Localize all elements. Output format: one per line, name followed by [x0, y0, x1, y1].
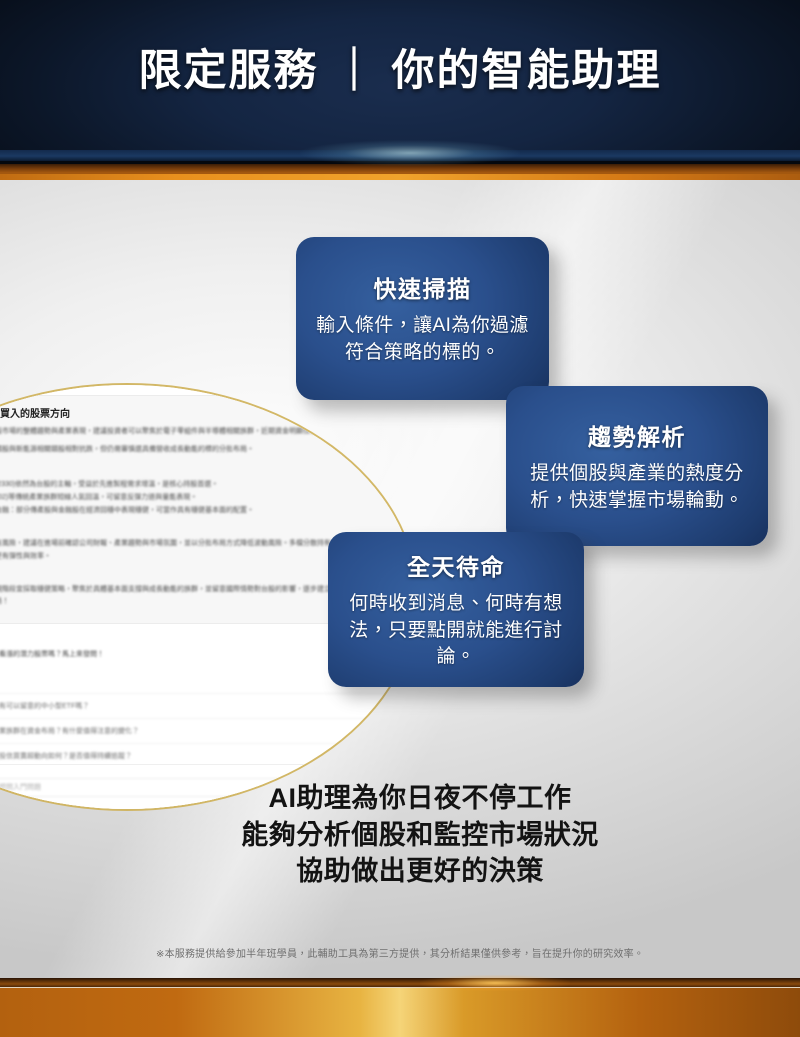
list-item: 傳產與金融：部分傳產股與金融股在經濟回穩中表現穩健，可當作具有穩健基本面的配置。	[0, 504, 390, 517]
disclaimer-text: ※本服務提供給參加半年班學員，此輔助工具為第三方提供，其分析結果僅供參考，旨在提…	[0, 945, 800, 960]
header-banner: 限定服務 ｜ 你的智能助理	[0, 0, 800, 150]
list-item: 中鋼(2002)等傳統產業族群短線人氣回溫，可留意反彈力道與量能表現。	[0, 491, 390, 504]
feature-card-title: 全天待命	[407, 548, 505, 582]
feature-card-body: 何時收到消息、何時有想法，只要點開就能進行討論。	[344, 591, 568, 672]
feature-card-body: 輸入條件，讓AI為你過濾符合策略的標的。	[314, 313, 531, 367]
followup-question[interactable]: 除了權值股之外有可以留意的中小型ETF嗎？	[0, 693, 402, 718]
feature-card-trend-analysis: 趨勢解析 提供個股與產業的熱度分析，快速掌握市場輪動。	[506, 386, 768, 546]
headline-line-2: 能夠分析個股和監控市場狀況	[160, 817, 680, 854]
answer-subheading-2: 投資試算：	[0, 524, 390, 534]
answer-bullet-list: 台積電(2330)依然為台股的主軸，受益於先進製程需求增溫，是核心持股首選。 中…	[0, 478, 390, 518]
answer-paragraph-2: 修正，科技類股與新能源相關類股相對抗跌，但仍需審慎選具備營收成長動能的標的分批布…	[0, 444, 390, 456]
feature-card-body: 提供個股與產業的熱度分析，快速掌握市場輪動。	[522, 461, 752, 515]
feature-card-title: 趨勢解析	[588, 418, 686, 452]
answer-paragraph-1: 根據目前台股市場的整體趨勢與產業表現，建議投資者可以聚焦於電子零組件與半導體相關…	[0, 426, 390, 438]
headline-block: AI助理為你日夜不停工作 能夠分析個股和監控市場狀況 協助做出更好的決策	[160, 780, 680, 890]
footer-gold-bar	[0, 988, 800, 1037]
feature-card-always-on: 全天待命 何時收到消息、何時有想法，只要點開就能進行討論。	[328, 532, 584, 687]
answer-title: 今日建議買入的股票方向	[0, 405, 390, 420]
followup-question[interactable]: 現階段是哪些產業族群在資金布局？有什麼值得注意的變化？	[0, 718, 402, 743]
page-title: 限定服務 ｜ 你的智能助理	[0, 50, 800, 93]
slide-root: 限定服務 ｜ 你的智能助理 新增對話 歷史紀錄 股市分析專家 近期對話紀錄 今日…	[0, 0, 800, 1037]
divider-blue-band	[0, 150, 800, 161]
answer-subheading-1: 整理建議：	[0, 464, 390, 474]
headline-line-1: AI助理為你日夜不停工作	[160, 780, 680, 817]
list-item: 台積電(2330)依然為台股的主軸，受益於先進製程需求增溫，是核心持股首選。	[0, 478, 390, 491]
followup-prompt-text: 想深入了解未來看漲的潛力股票嗎？馬上來發問！	[0, 649, 360, 659]
headline-line-3: 協助做出更好的決策	[160, 853, 680, 890]
feature-card-quick-scan: 快速掃描 輸入條件，讓AI為你過濾符合策略的標的。	[296, 237, 549, 400]
feature-card-title: 快速掃描	[374, 270, 472, 304]
